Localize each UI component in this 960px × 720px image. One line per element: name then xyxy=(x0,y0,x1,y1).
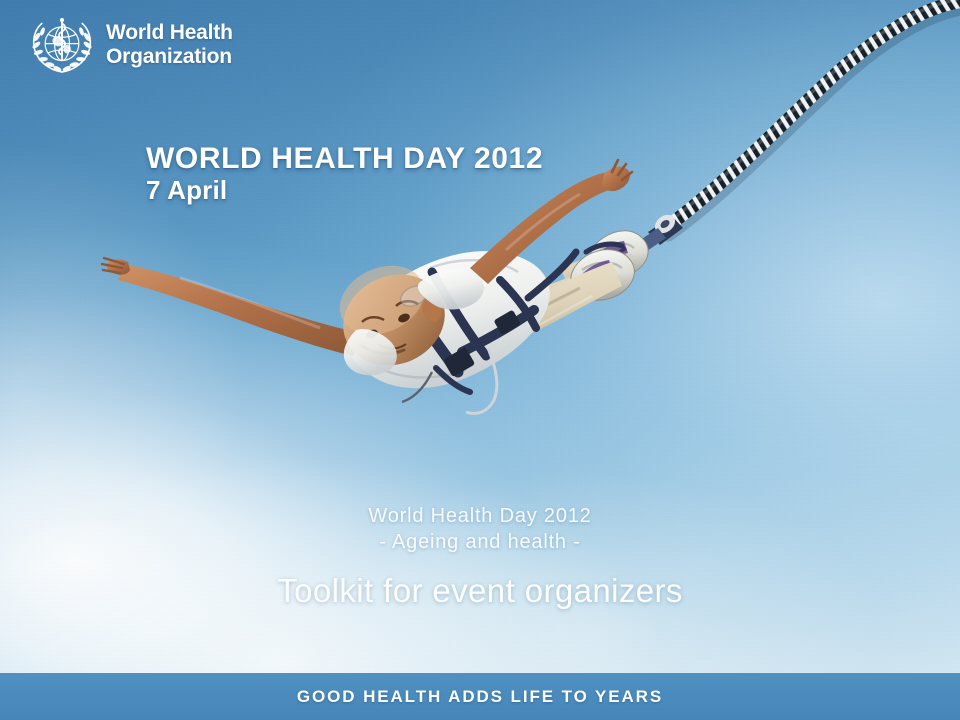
who-wordmark-line1: World Health xyxy=(106,21,233,45)
bottom-slogan-band: GOOD HEALTH ADDS LIFE TO YEARS xyxy=(0,673,960,720)
headline-title: WORLD HEALTH DAY 2012 xyxy=(146,144,543,174)
center-text-block: World Health Day 2012 - Ageing and healt… xyxy=(0,503,960,610)
who-wordmark: World Health Organization xyxy=(106,21,233,68)
center-event-theme: - Ageing and health - xyxy=(0,529,960,555)
left-arm xyxy=(102,258,356,356)
headline-block: WORLD HEALTH DAY 2012 7 April xyxy=(146,144,543,204)
center-event-name: World Health Day 2012 xyxy=(0,503,960,529)
who-emblem-icon xyxy=(28,14,96,76)
jumper-illustration xyxy=(0,0,960,720)
who-logo: World Health Organization xyxy=(28,14,233,76)
poster-canvas: World Health Organization WORLD HEALTH D… xyxy=(0,0,960,720)
headline-date: 7 April xyxy=(146,176,543,204)
slogan-text: GOOD HEALTH ADDS LIFE TO YEARS xyxy=(297,687,663,707)
bungee-cord xyxy=(664,0,960,233)
who-wordmark-line2: Organization xyxy=(106,45,233,69)
toolkit-title: Toolkit for event organizers xyxy=(0,572,960,610)
bungee-jumper-photo xyxy=(0,0,960,720)
